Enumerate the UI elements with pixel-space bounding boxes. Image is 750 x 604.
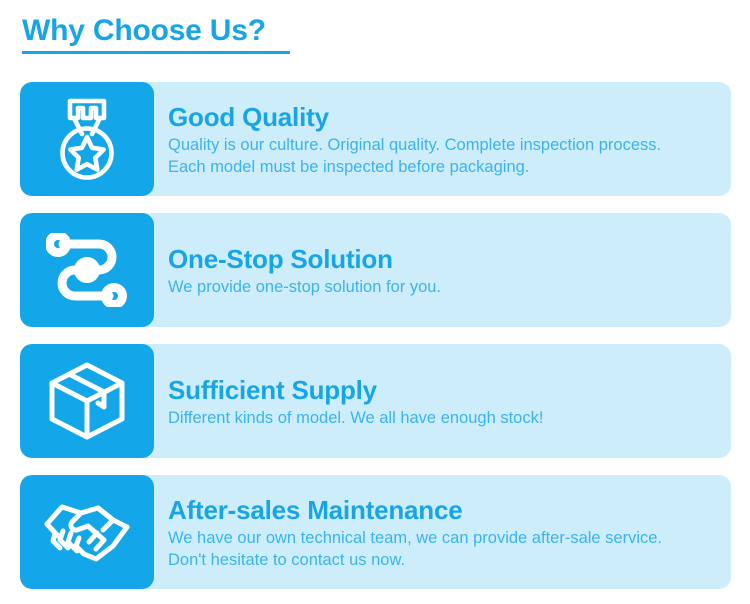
- feature-card-good-quality[interactable]: Good Quality Quality is our culture. Ori…: [20, 82, 731, 196]
- feature-icon-tile: [20, 82, 154, 196]
- feature-card-description: Quality is our culture. Original quality…: [168, 134, 688, 178]
- feature-card-body: Good Quality Quality is our culture. Ori…: [154, 82, 731, 196]
- page-title: Why Choose Us?: [22, 14, 290, 48]
- handshake-icon: [41, 497, 133, 567]
- feature-icon-tile: [20, 213, 154, 327]
- feature-card-body: After-sales Maintenance We have our own …: [154, 475, 731, 589]
- medal-star-icon: [48, 97, 126, 181]
- feature-card-title: Sufficient Supply: [168, 375, 715, 405]
- feature-icon-tile: [20, 344, 154, 458]
- package-box-icon: [45, 359, 129, 443]
- route-path-nodes-icon: [46, 233, 128, 307]
- feature-card-description: We provide one-stop solution for you.: [168, 276, 688, 298]
- page-heading: Why Choose Us?: [22, 14, 290, 54]
- title-underline: [22, 51, 290, 54]
- feature-card-title: After-sales Maintenance: [168, 495, 715, 525]
- feature-card-list: Good Quality Quality is our culture. Ori…: [20, 82, 731, 589]
- feature-icon-tile: [20, 475, 154, 589]
- feature-card-description: Different kinds of model. We all have en…: [168, 407, 688, 429]
- feature-card-title: One-Stop Solution: [168, 244, 715, 274]
- feature-card-after-sales-maintenance[interactable]: After-sales Maintenance We have our own …: [20, 475, 731, 589]
- feature-card-one-stop-solution[interactable]: One-Stop Solution We provide one-stop so…: [20, 213, 731, 327]
- feature-card-title: Good Quality: [168, 102, 715, 132]
- feature-card-description: We have our own technical team, we can p…: [168, 527, 688, 571]
- why-choose-us-page: Why Choose Us?: [0, 0, 750, 604]
- feature-card-sufficient-supply[interactable]: Sufficient Supply Different kinds of mod…: [20, 344, 731, 458]
- feature-card-body: One-Stop Solution We provide one-stop so…: [154, 213, 731, 327]
- feature-card-body: Sufficient Supply Different kinds of mod…: [154, 344, 731, 458]
